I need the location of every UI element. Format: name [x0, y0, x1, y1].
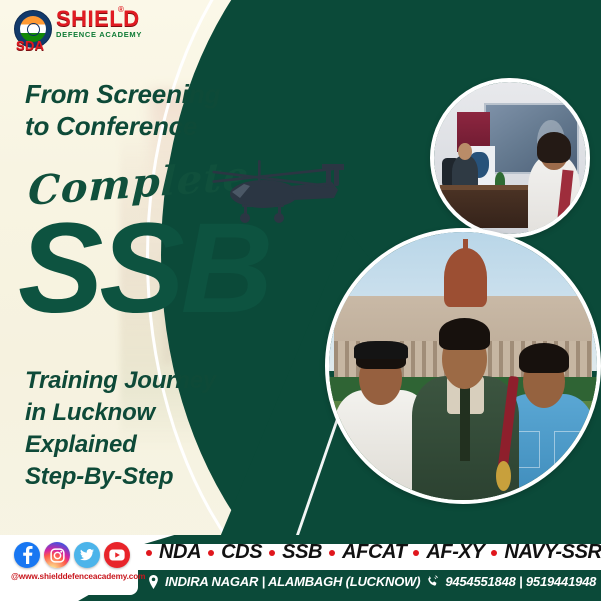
bullet-icon	[269, 550, 275, 556]
twitter-icon[interactable]	[74, 542, 100, 568]
bottom-contact-banner: @www.shielddefenceacademy.com NDA CDS SS…	[0, 535, 601, 601]
course-afcat: AFCAT	[342, 541, 406, 564]
brand-name: SHIELD	[56, 8, 142, 30]
bullet-icon	[329, 550, 335, 556]
poster-canvas: SHIELD DEFENCE ACADEMY ® SDA From Screen…	[0, 0, 601, 601]
courses-list: NDA CDS SSB AFCAT AF-XY NAVY-SSR/AA	[146, 541, 601, 564]
photo-interview-room	[430, 78, 590, 238]
brand-tagline: DEFENCE ACADEMY	[56, 31, 142, 39]
officer-army	[412, 286, 519, 500]
brand-abbreviation: SDA	[16, 38, 44, 53]
website-url[interactable]: @www.shielddefenceacademy.com	[11, 572, 145, 581]
headline-bottom: Training Journey in Lucknow Explained St…	[25, 365, 315, 494]
map-pin-icon	[148, 575, 159, 589]
youtube-icon[interactable]	[104, 542, 130, 568]
location-text: INDIRA NAGAR | ALAMBAGH (LUCKNOW)	[165, 574, 420, 589]
course-afxy: AF-XY	[426, 541, 484, 564]
course-navy-ssr-aa: NAVY-SSR/AA	[504, 541, 601, 564]
course-cds: CDS	[221, 541, 262, 564]
headline-top: From Screening to Conference	[25, 78, 315, 142]
social-links-box: @www.shielddefenceacademy.com	[6, 539, 138, 595]
bullet-icon	[413, 550, 419, 556]
course-ssb: SSB	[282, 541, 322, 564]
facebook-icon[interactable]	[14, 542, 40, 568]
registered-mark: ®	[118, 5, 124, 14]
phone-ringing-icon	[426, 575, 439, 588]
bullet-icon	[208, 550, 214, 556]
phone-numbers: 9454551848 | 9519441948	[445, 574, 596, 589]
contact-row: INDIRA NAGAR | ALAMBAGH (LUCKNOW) 945455…	[148, 574, 596, 589]
instagram-icon[interactable]	[44, 542, 70, 568]
bullet-icon	[146, 550, 152, 556]
course-nda: NDA	[159, 541, 201, 564]
bullet-icon	[491, 550, 497, 556]
military-helicopter-icon	[198, 142, 346, 228]
photo-three-officers	[325, 228, 601, 504]
